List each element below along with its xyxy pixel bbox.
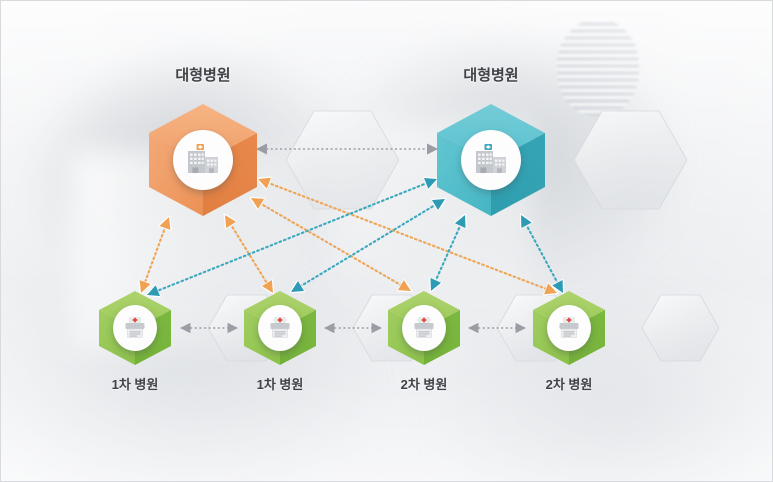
node-clinic-2[interactable] <box>241 289 319 367</box>
hub-orange-label: 대형병원 <box>143 64 263 85</box>
medical-record-icon <box>122 315 148 341</box>
hub-teal-badge <box>461 130 521 190</box>
clinic-2-badge <box>258 305 302 351</box>
hub-teal-label: 대형병원 <box>431 64 551 85</box>
node-clinic-4[interactable] <box>530 289 608 367</box>
node-hub-orange[interactable] <box>145 102 261 218</box>
node-clinic-1[interactable] <box>96 289 174 367</box>
hub-orange-badge <box>173 130 233 190</box>
hospital-building-icon <box>184 143 222 177</box>
clinic-3-label: 2차 병원 <box>374 374 474 393</box>
connection-layer <box>1 1 772 481</box>
clinic-2-label: 1차 병원 <box>230 374 330 393</box>
clinic-4-label: 2차 병원 <box>519 374 619 393</box>
clinic-1-label: 1차 병원 <box>85 374 185 393</box>
clinic-1-badge <box>113 305 157 351</box>
node-clinic-3[interactable] <box>385 289 463 367</box>
medical-record-icon <box>411 315 437 341</box>
diagram-canvas: 대형병원 <box>0 0 773 482</box>
medical-record-icon <box>267 315 293 341</box>
node-hub-teal[interactable] <box>433 102 549 218</box>
clinic-4-badge <box>547 305 591 351</box>
medical-record-icon <box>556 315 582 341</box>
clinic-3-badge <box>402 305 446 351</box>
hospital-building-icon <box>472 143 510 177</box>
